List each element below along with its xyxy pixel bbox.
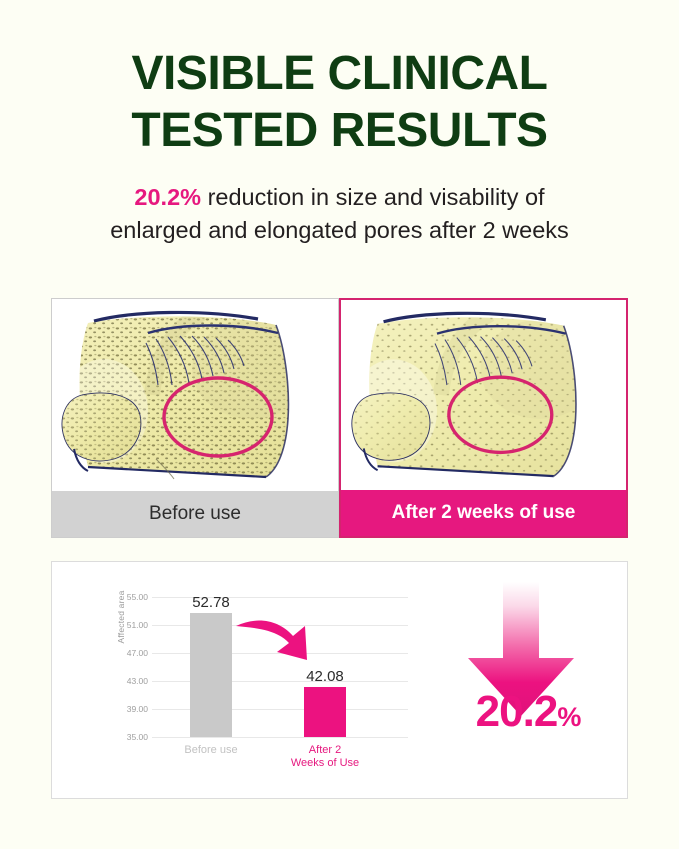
gridline: [152, 737, 408, 738]
x-label-after-line-2: Weeks of Use: [291, 757, 359, 769]
bar-value-before: 52.78: [176, 594, 246, 611]
x-label-before-line-1: Before use: [184, 744, 237, 756]
y-tick-label: 51.00: [104, 620, 148, 630]
results-chart: Affected area 55.00 51.00 47.00 43.00 39…: [0, 0, 679, 849]
reduction-percent-value: 20.2: [476, 687, 558, 736]
y-tick-label: 43.00: [104, 676, 148, 686]
bar-after-2-weeks: [304, 687, 346, 737]
decrease-curve-arrow: [233, 612, 323, 674]
y-tick-label: 47.00: [104, 648, 148, 658]
x-label-after-2-weeks: After 2 Weeks of Use: [280, 744, 370, 770]
x-label-after-line-1: After 2: [309, 744, 341, 756]
bar-before-use: [190, 613, 232, 737]
reduction-percent-symbol: %: [557, 702, 580, 732]
reduction-percent-callout: 20.2%: [443, 690, 613, 734]
y-tick-label: 55.00: [104, 592, 148, 602]
y-tick-label: 35.00: [104, 732, 148, 742]
x-label-before-use: Before use: [166, 744, 256, 757]
y-tick-label: 39.00: [104, 704, 148, 714]
